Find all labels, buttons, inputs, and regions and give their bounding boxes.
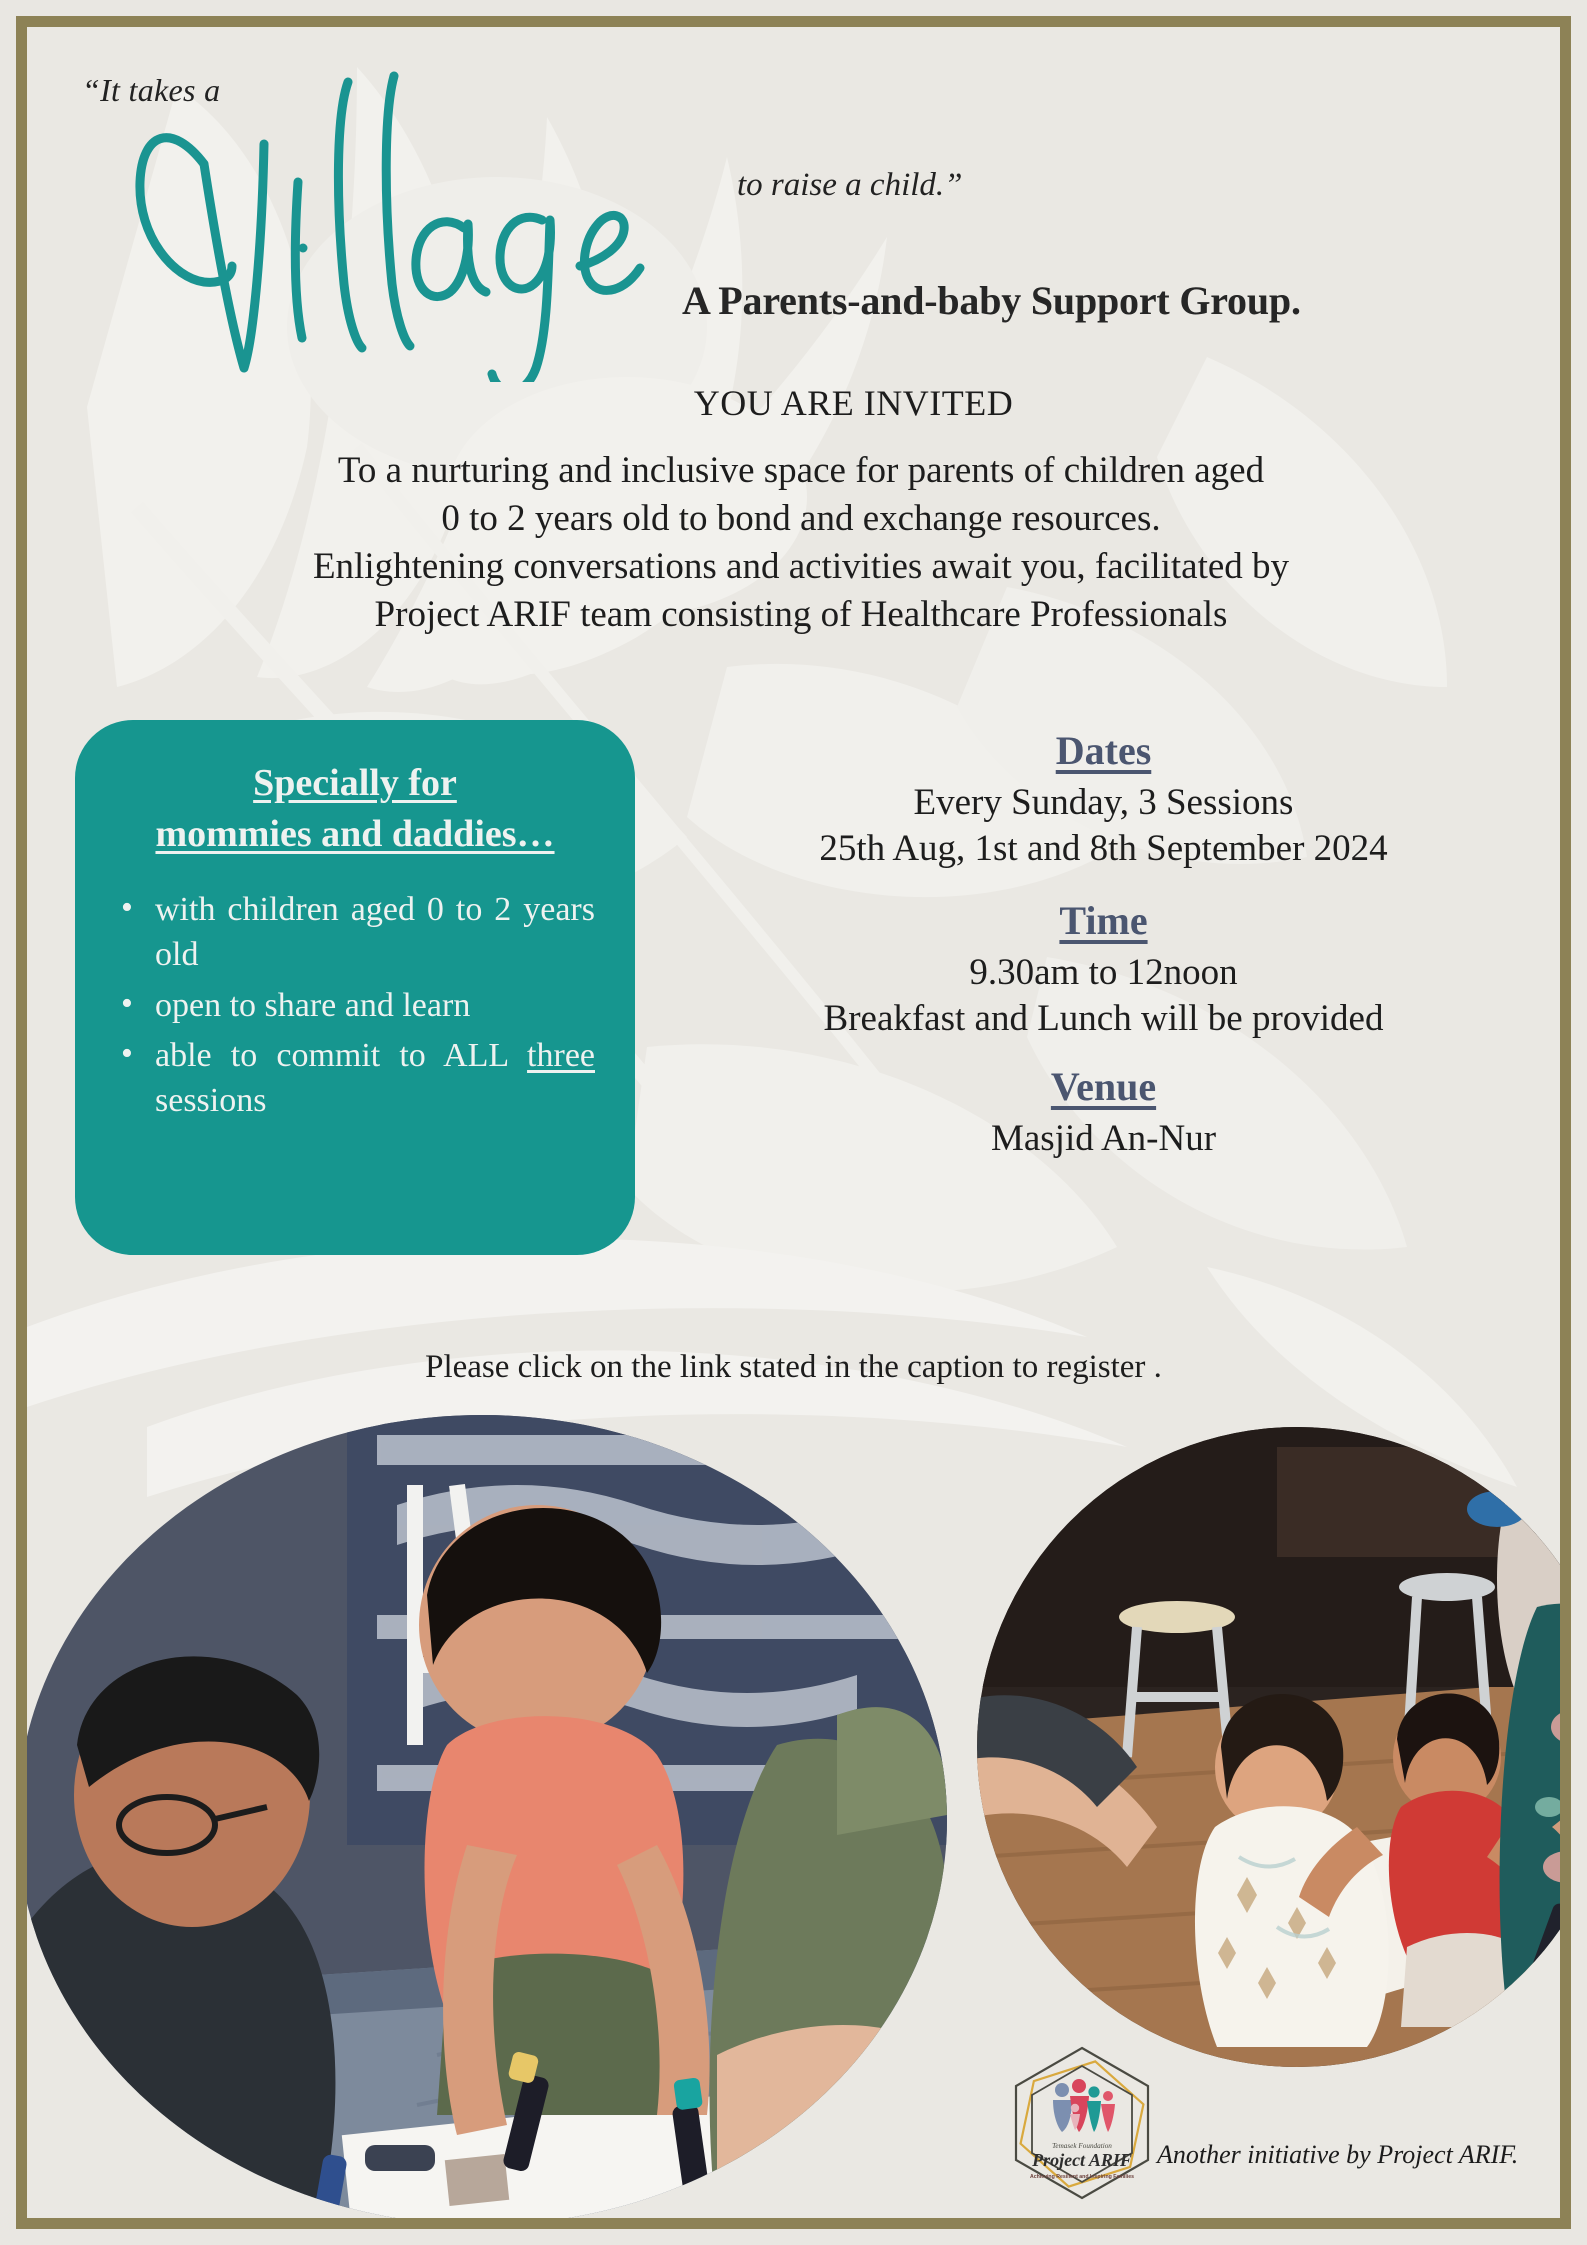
photo-parent-child-drawing (27, 1415, 947, 2218)
audience-bullet-list: with children aged 0 to 2 years old open… (109, 887, 601, 1123)
project-arif-logo: Temasek Foundation Project ARIF Achievin… (1002, 2042, 1162, 2202)
you-are-invited-label: YOU ARE INVITED (27, 382, 1560, 424)
invite-line-1: To a nurturing and inclusive space for p… (87, 447, 1515, 495)
register-instruction: Please click on the link stated in the c… (27, 1349, 1560, 1386)
venue-heading: Venue (667, 1063, 1540, 1110)
poster-canvas: “It takes a (27, 27, 1560, 2218)
bullet-text-2: open to share and learn (155, 987, 470, 1024)
event-details: Dates Every Sunday, 3 Sessions 25th Aug,… (667, 727, 1540, 1162)
bullet-text-3-pre: able to commit to ALL (155, 1037, 527, 1074)
initiative-credit: Another initiative by Project ARIF. (1157, 2140, 1518, 2170)
invite-line-2: 0 to 2 years old to bond and exchange re… (87, 495, 1515, 543)
village-script-logo (112, 52, 672, 382)
venue-line-1: Masjid An-Nur (667, 1116, 1540, 1162)
invite-line-4: Project ARIF team consisting of Healthca… (87, 591, 1515, 639)
poster-root: “It takes a (0, 0, 1587, 2245)
dates-heading: Dates (667, 727, 1540, 774)
list-item: open to share and learn (149, 983, 595, 1028)
quote-close-text: to raise a child.” (737, 167, 963, 204)
dates-line-2: 25th Aug, 1st and 8th September 2024 (667, 826, 1540, 872)
invitation-paragraph: To a nurturing and inclusive space for p… (87, 447, 1515, 639)
audience-heading-line-2: mommies and daddies… (155, 813, 554, 855)
bullet-text-1: with children aged 0 to 2 years old (155, 891, 595, 973)
audience-heading-line-1: Specially for (253, 762, 457, 804)
invite-line-3: Enlightening conversations and activitie… (87, 543, 1515, 591)
list-item: able to commit to ALL three sessions (149, 1033, 595, 1123)
photo-toddlers-playing (977, 1427, 1560, 2067)
time-heading: Time (667, 897, 1540, 944)
audience-card: Specially for mommies and daddies… with … (75, 720, 635, 1255)
logo-tagline-text: Achieving Resilient and Inspiring Famili… (1030, 2174, 1134, 2180)
logo-name-text: Project ARIF (1031, 2150, 1132, 2170)
logo-org-text: Temasek Foundation (1052, 2142, 1112, 2150)
time-line-2: Breakfast and Lunch will be provided (667, 996, 1540, 1042)
dates-line-1: Every Sunday, 3 Sessions (667, 780, 1540, 826)
bullet-text-3-post: sessions (155, 1082, 266, 1119)
time-line-1: 9.30am to 12noon (667, 950, 1540, 996)
you-are-invited-text: YOU ARE INVITED (574, 383, 1013, 423)
bullet-text-3-underlined: three (527, 1037, 595, 1074)
audience-card-heading: Specially for mommies and daddies… (109, 758, 601, 859)
poster-subtitle: A Parents-and-baby Support Group. (682, 277, 1301, 324)
list-item: with children aged 0 to 2 years old (149, 887, 595, 977)
